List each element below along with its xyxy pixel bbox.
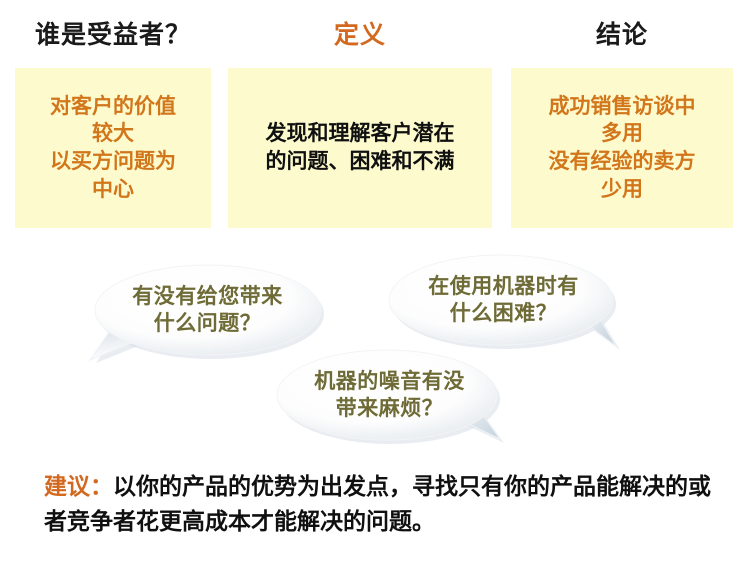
slide-canvas: 谁是受益者？ 定义 结论 对客户的价值 较大 以买方问题为 中心 发现和理解客户… bbox=[0, 0, 748, 587]
speech-bubble-question-3: 机器的噪音有没 带来麻烦？ bbox=[272, 343, 507, 463]
column-header-definition: 定义 bbox=[228, 18, 492, 52]
advice-label: 建议： bbox=[44, 474, 113, 500]
speech-bubble-3-shape bbox=[272, 343, 507, 463]
panel-beneficiary: 对客户的价值 较大 以买方问题为 中心 bbox=[15, 68, 211, 228]
speech-bubble-group: 有没有给您带来 什么问题？ bbox=[0, 240, 748, 455]
panel-conclusion: 成功销售访谈中 多用 没有经验的卖方 少用 bbox=[511, 68, 733, 228]
panel-definition-text: 发现和理解客户潜在 的问题、困难和不满 bbox=[266, 120, 455, 175]
panel-conclusion-text: 成功销售访谈中 多用 没有经验的卖方 少用 bbox=[549, 93, 696, 204]
advice-footer: 建议：以你的产品的优势为出发点，寻找只有你的产品能解决的或者竞争者花更高成本才能… bbox=[44, 470, 724, 540]
panel-definition: 发现和理解客户潜在 的问题、困难和不满 bbox=[228, 68, 492, 228]
column-header-conclusion: 结论 bbox=[511, 18, 733, 52]
column-header-beneficiary: 谁是受益者？ bbox=[15, 18, 211, 52]
panel-beneficiary-text: 对客户的价值 较大 以买方问题为 中心 bbox=[50, 93, 176, 204]
advice-text: 以你的产品的优势为出发点，寻找只有你的产品能解决的或者竞争者花更高成本才能解决的… bbox=[44, 474, 711, 535]
